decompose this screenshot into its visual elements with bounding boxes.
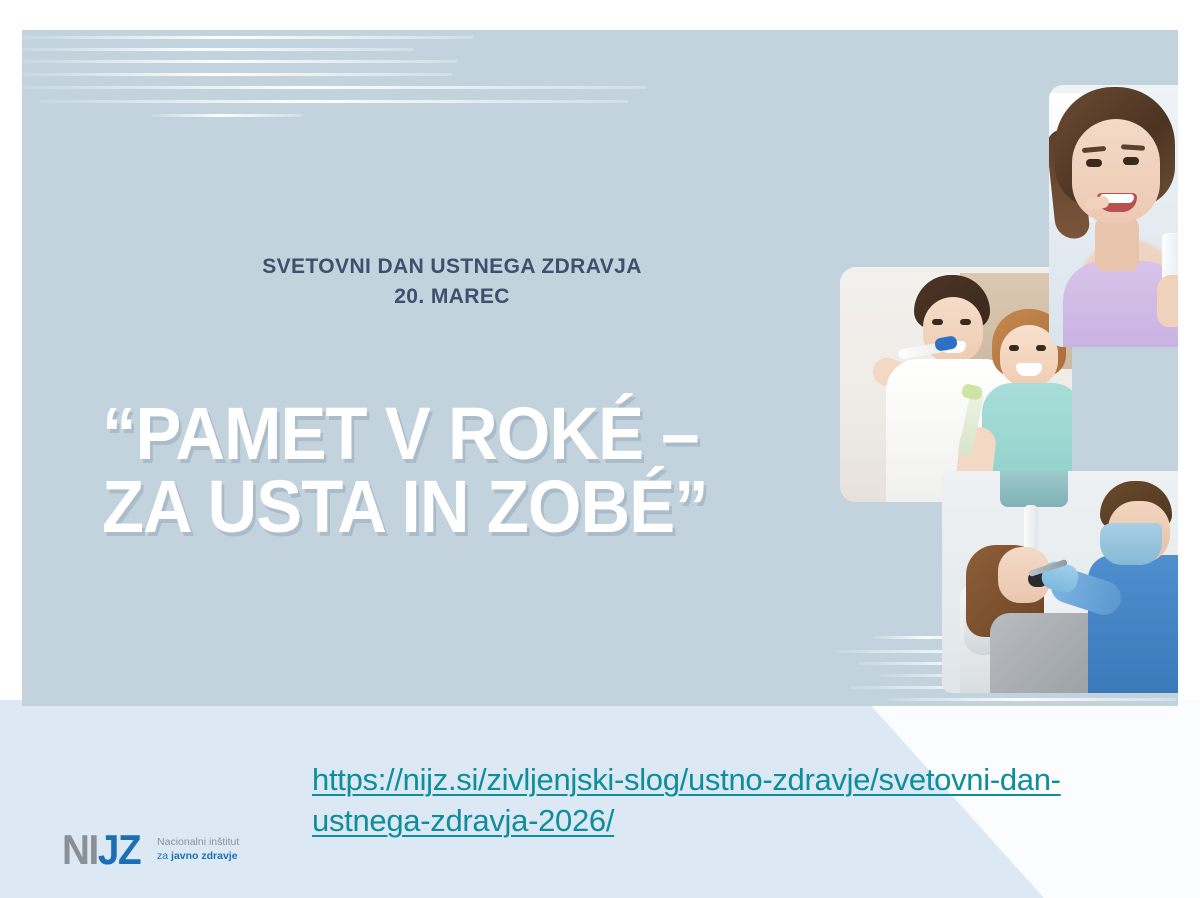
logo-tagline-line-2: za javno zdravje (157, 850, 239, 864)
slide-canvas: SVETOVNI DAN USTNEGA ZDRAVJA 20. MAREC “… (0, 0, 1200, 898)
title-line-1: “PAMET V ROKÉ – (102, 398, 790, 471)
decorative-lines-top-left (22, 30, 722, 160)
photo-two-children-brushing-teeth (840, 267, 1072, 502)
kicker-line-2: 20. MAREC (132, 282, 772, 312)
boy-eye-left (932, 319, 943, 325)
dentist-blue-scrubs (1088, 555, 1178, 693)
photo-smiling-woman-with-dental-tool (1049, 85, 1178, 347)
woman-hand (1157, 275, 1178, 327)
woman-neck (1095, 217, 1139, 271)
slide-title: “PAMET V ROKÉ – ZA USTA IN ZOBÉ” (102, 398, 790, 543)
dental-lamp (1000, 471, 1068, 507)
dentist-face-mask (1100, 523, 1162, 565)
campaign-url-link[interactable]: https://nijz.si/zivljenjski-slog/ustno-z… (312, 760, 1142, 842)
girl-eye-left (1009, 345, 1019, 351)
nijz-logo: NIJZ Nacionalni inštitut za javno zdravj… (62, 822, 262, 878)
kicker-line-1: SVETOVNI DAN USTNEGA ZDRAVJA (262, 255, 642, 278)
photo-dentist-examining-patient (942, 471, 1178, 693)
title-line-2: ZA USTA IN ZOBÉ” (102, 471, 790, 544)
woman-eye-right (1123, 157, 1139, 165)
girl-smile (1016, 363, 1042, 376)
boy-eye-right (960, 319, 971, 325)
event-kicker: SVETOVNI DAN USTNEGA ZDRAVJA 20. MAREC (132, 252, 772, 313)
girl-eye-right (1036, 345, 1046, 351)
logo-mark-ni: NI (62, 826, 98, 873)
woman-eye-left (1086, 159, 1102, 167)
content-panel: SVETOVNI DAN USTNEGA ZDRAVJA 20. MAREC “… (22, 30, 1178, 706)
logo-mark-jz: JZ (98, 826, 140, 873)
nijz-logo-tagline: Nacionalni inštitut za javno zdravje (157, 836, 239, 864)
patient-body (990, 613, 1102, 693)
logo-tagline-bold: javno zdravje (171, 850, 238, 862)
logo-tagline-prefix: za (157, 850, 171, 862)
logo-tagline-line-1: Nacionalni inštitut (157, 836, 239, 850)
nijz-logo-mark: NIJZ (62, 829, 140, 871)
